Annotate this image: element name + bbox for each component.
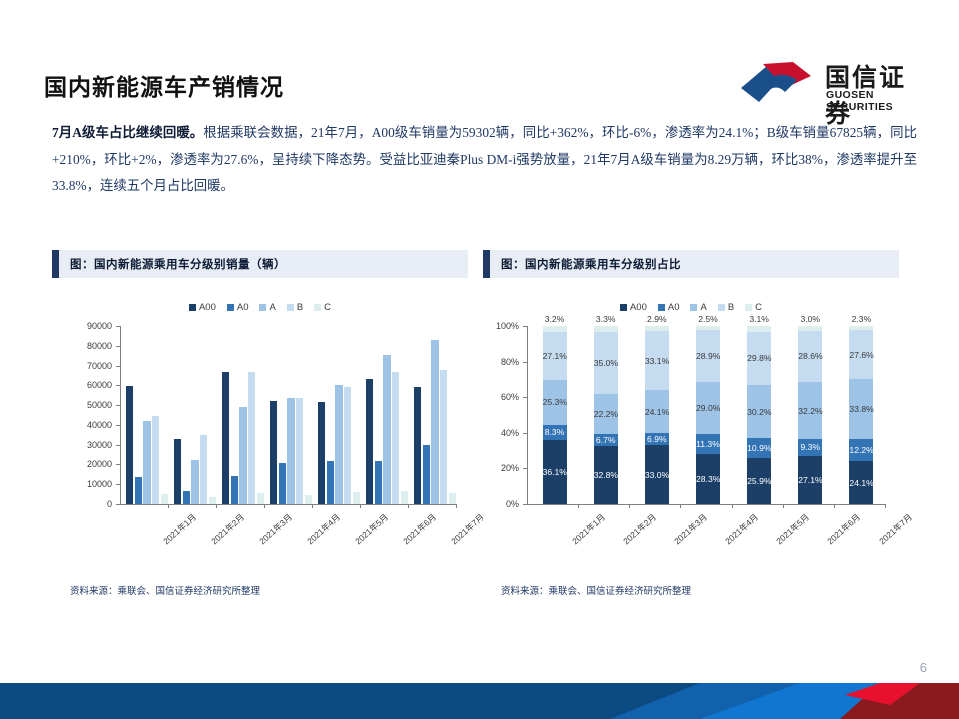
legend-swatch-a00	[620, 304, 627, 311]
segment-label-a0: 8.3%	[543, 427, 567, 437]
bar-a0	[183, 491, 190, 504]
bar-c	[449, 493, 456, 504]
segment-label-c: 3.0%	[798, 314, 822, 324]
segment-label-b: 27.6%	[849, 350, 873, 360]
legend-item-a00: A00	[620, 302, 647, 313]
legend-item-a: A	[690, 302, 706, 313]
y-tick	[523, 504, 527, 505]
legend-label-a0: A0	[237, 302, 249, 313]
stacked-bar: 32.8%6.7%22.2%35.0%3.3%	[594, 326, 618, 504]
bar-a	[143, 421, 150, 504]
bar-b	[152, 416, 159, 504]
x-axis-label: 2021年2月	[208, 511, 246, 547]
bar-b	[200, 435, 207, 504]
bar-b	[248, 372, 255, 504]
guosen-logo-mark	[737, 58, 815, 104]
segment-label-a00: 27.1%	[798, 475, 822, 485]
y-axis-label: 70000	[52, 361, 112, 371]
segment-label-a0: 11.3%	[696, 439, 720, 449]
bar-a	[287, 398, 294, 504]
segment-label-b: 33.1%	[645, 356, 669, 366]
summary-paragraph: 7月A级车占比继续回暖。根据乘联会数据，21年7月，A00级车销量为59302辆…	[52, 120, 917, 200]
bar-a	[335, 385, 342, 504]
y-tick	[116, 385, 120, 386]
y-tick	[116, 464, 120, 465]
segment-label-b: 28.9%	[696, 351, 720, 361]
x-axis-label: 2021年7月	[448, 511, 486, 547]
y-axis-label: 50000	[52, 400, 112, 410]
legend-item-b: B	[718, 302, 734, 313]
legend-swatch-a	[690, 304, 697, 311]
segment-label-a0: 9.3%	[798, 442, 822, 452]
x-tick	[680, 504, 681, 508]
bar-a00	[174, 439, 181, 504]
legend-item-a0: A0	[658, 302, 680, 313]
x-tick	[578, 504, 579, 508]
y-axis-label: 20000	[52, 459, 112, 469]
legend-item-a: A	[259, 302, 275, 313]
bar-a00	[414, 387, 421, 504]
bar-c	[209, 497, 216, 504]
chart-panel-volume-header: 图：国内新能源乘用车分级别销量（辆）	[52, 250, 468, 278]
bar-b	[440, 370, 447, 504]
slide-page: 国内新能源车产销情况 国信证券 GUOSEN SECURITIES 7月A级车占…	[0, 0, 959, 719]
bar-c	[353, 492, 360, 504]
segment-label-a: 29.0%	[696, 403, 720, 413]
x-axis-label: 2021年5月	[774, 511, 812, 547]
segment-label-c: 2.3%	[849, 314, 873, 324]
segment-label-a: 24.1%	[645, 407, 669, 417]
segment-label-a: 32.2%	[798, 406, 822, 416]
bar-a0	[327, 461, 334, 504]
chart-panel-volume-body: A00A0ABC 0100002000030000400005000060000…	[52, 278, 468, 578]
x-axis-label: 2021年6月	[400, 511, 438, 547]
chart-legend-share: A00A0ABC	[483, 302, 899, 313]
x-tick	[408, 504, 409, 508]
bar-a0	[375, 461, 382, 504]
stacked-bar: 24.1%12.2%33.8%27.6%2.3%	[849, 326, 873, 504]
y-tick	[116, 504, 120, 505]
y-axis-label: 60%	[483, 392, 519, 402]
panel-accent-bar	[52, 250, 59, 278]
segment-label-a00: 25.9%	[747, 476, 771, 486]
legend-item-a0: A0	[227, 302, 249, 313]
y-axis-label: 10000	[52, 479, 112, 489]
legend-label-c: C	[755, 302, 762, 313]
x-tick	[264, 504, 265, 508]
y-tick	[116, 405, 120, 406]
x-tick	[360, 504, 361, 508]
footer-bands	[0, 683, 959, 719]
legend-label-a: A	[269, 302, 275, 313]
bar-c	[305, 495, 312, 504]
y-tick	[523, 326, 527, 327]
y-axis-label: 80000	[52, 341, 112, 351]
y-axis-line	[527, 326, 528, 504]
y-tick	[116, 346, 120, 347]
y-tick	[116, 445, 120, 446]
x-tick	[216, 504, 217, 508]
legend-swatch-c	[745, 304, 752, 311]
legend-item-a00: A00	[189, 302, 216, 313]
bar-a	[191, 460, 198, 504]
segment-label-a00: 33.0%	[645, 470, 669, 480]
legend-label-a: A	[700, 302, 706, 313]
segment-label-a0: 6.7%	[594, 435, 618, 445]
bar-a0	[135, 477, 142, 504]
chart-plot-share: 0%20%40%60%80%100%36.1%8.3%25.3%27.1%3.2…	[483, 320, 899, 578]
bar-c	[401, 491, 408, 504]
segment-label-a00: 36.1%	[543, 467, 567, 477]
x-tick	[629, 504, 630, 508]
y-tick	[116, 425, 120, 426]
x-axis-label: 2021年7月	[876, 511, 914, 547]
y-axis-label: 60000	[52, 380, 112, 390]
segment-label-c: 3.3%	[594, 314, 618, 324]
segment-label-b: 29.8%	[747, 353, 771, 363]
bar-b	[392, 372, 399, 504]
x-tick	[885, 504, 886, 508]
chart-title-volume: 图：国内新能源乘用车分级别销量（辆）	[70, 256, 286, 272]
slide-header: 国内新能源车产销情况 国信证券 GUOSEN SECURITIES	[0, 0, 959, 115]
legend-label-a00: A00	[630, 302, 647, 313]
chart-panel-share-body: A00A0ABC 0%20%40%60%80%100%36.1%8.3%25.3…	[483, 278, 899, 578]
x-tick	[312, 504, 313, 508]
x-axis-label: 2021年6月	[825, 511, 863, 547]
bar-a	[383, 355, 390, 504]
panel-accent-bar	[483, 250, 490, 278]
x-tick	[783, 504, 784, 508]
legend-label-c: C	[324, 302, 331, 313]
legend-swatch-c	[314, 304, 321, 311]
segment-label-c: 2.9%	[645, 314, 669, 324]
x-tick	[732, 504, 733, 508]
segment-label-b: 28.6%	[798, 351, 822, 361]
stacked-bar: 25.9%10.9%30.2%29.8%3.1%	[747, 326, 771, 504]
logo-english-name: GUOSEN SECURITIES	[826, 89, 917, 113]
y-tick	[523, 397, 527, 398]
x-axis-label: 2021年4月	[304, 511, 342, 547]
bar-c	[161, 494, 168, 504]
y-tick	[523, 468, 527, 469]
y-axis-label: 30000	[52, 440, 112, 450]
stacked-bar: 36.1%8.3%25.3%27.1%3.2%	[543, 326, 567, 504]
segment-label-a00: 24.1%	[849, 478, 873, 488]
segment-c	[645, 326, 669, 331]
x-tick	[834, 504, 835, 508]
segment-label-a: 25.3%	[543, 397, 567, 407]
legend-swatch-a0	[658, 304, 665, 311]
x-axis-label: 2021年4月	[723, 511, 761, 547]
bar-b	[296, 398, 303, 504]
bar-a00	[126, 386, 133, 504]
y-tick	[116, 484, 120, 485]
segment-c	[594, 326, 618, 332]
stacked-bar: 28.3%11.3%29.0%28.9%2.5%	[696, 326, 720, 504]
bar-a0	[231, 476, 238, 504]
chart-plot-volume: 0100002000030000400005000060000700008000…	[52, 320, 468, 578]
bar-a	[431, 340, 438, 504]
segment-label-c: 3.2%	[543, 314, 567, 324]
legend-label-a00: A00	[199, 302, 216, 313]
segment-c	[798, 326, 822, 331]
y-axis-label: 0%	[483, 499, 519, 509]
legend-swatch-b	[718, 304, 725, 311]
page-title: 国内新能源车产销情况	[44, 68, 284, 102]
legend-swatch-b	[287, 304, 294, 311]
y-axis-label: 40000	[52, 420, 112, 430]
segment-label-a0: 12.2%	[849, 445, 873, 455]
legend-label-b: B	[297, 302, 303, 313]
segment-label-a: 30.2%	[747, 407, 771, 417]
bar-a00	[270, 401, 277, 504]
legend-label-a0: A0	[668, 302, 680, 313]
legend-swatch-a	[259, 304, 266, 311]
segment-label-a00: 28.3%	[696, 474, 720, 484]
segment-label-a0: 6.9%	[645, 434, 669, 444]
x-axis-line	[527, 504, 885, 505]
chart-panel-share-header: 图：国内新能源乘用车分级别占比	[483, 250, 899, 278]
segment-label-a: 22.2%	[594, 409, 618, 419]
bar-b	[344, 387, 351, 504]
x-axis-label: 2021年1月	[569, 511, 607, 547]
bar-a	[239, 407, 246, 504]
y-axis-label: 20%	[483, 463, 519, 473]
y-axis-line	[120, 326, 121, 504]
x-tick	[456, 504, 457, 508]
legend-item-b: B	[287, 302, 303, 313]
segment-label-c: 2.5%	[696, 314, 720, 324]
summary-lead: 7月A级车占比继续回暖。	[52, 125, 203, 140]
footer-decoration	[0, 683, 959, 719]
segment-c	[849, 326, 873, 330]
bar-a00	[318, 402, 325, 504]
segment-label-a00: 32.8%	[594, 470, 618, 480]
x-axis-label: 2021年3月	[256, 511, 294, 547]
stacked-bar: 33.0%6.9%24.1%33.1%2.9%	[645, 326, 669, 504]
x-axis-label: 2021年5月	[352, 511, 390, 547]
legend-label-b: B	[728, 302, 734, 313]
bar-a0	[423, 445, 430, 504]
y-axis-label: 100%	[483, 321, 519, 331]
segment-label-b: 27.1%	[543, 351, 567, 361]
x-axis-label: 2021年1月	[160, 511, 198, 547]
legend-item-c: C	[314, 302, 331, 313]
y-axis-label: 80%	[483, 357, 519, 367]
chart-source-share: 资料来源：乘联会、国信证券经济研究所整理	[483, 583, 899, 597]
company-logo: 国信证券 GUOSEN SECURITIES	[737, 56, 917, 108]
chart-panel-volume: 图：国内新能源乘用车分级别销量（辆） A00A0ABC 010000200003…	[52, 250, 468, 600]
segment-label-a: 33.8%	[849, 404, 873, 414]
segment-label-b: 35.0%	[594, 358, 618, 368]
bar-a00	[222, 372, 229, 504]
chart-source-volume: 资料来源：乘联会、国信证券经济研究所整理	[52, 583, 468, 597]
segment-label-a0: 10.9%	[747, 443, 771, 453]
segment-c	[543, 326, 567, 332]
bar-c	[257, 493, 264, 504]
bar-a0	[279, 463, 286, 504]
segment-c	[696, 326, 720, 330]
y-tick	[523, 362, 527, 363]
chart-panel-share: 图：国内新能源乘用车分级别占比 A00A0ABC 0%20%40%60%80%1…	[483, 250, 899, 600]
y-tick	[523, 433, 527, 434]
segment-c	[747, 326, 771, 332]
chart-title-share: 图：国内新能源乘用车分级别占比	[501, 256, 681, 272]
legend-swatch-a0	[227, 304, 234, 311]
x-axis-line	[120, 504, 456, 505]
y-axis-label: 90000	[52, 321, 112, 331]
legend-item-c: C	[745, 302, 762, 313]
page-number: 6	[920, 660, 927, 675]
x-axis-label: 2021年3月	[671, 511, 709, 547]
segment-label-c: 3.1%	[747, 314, 771, 324]
x-tick	[168, 504, 169, 508]
y-axis-label: 40%	[483, 428, 519, 438]
legend-swatch-a00	[189, 304, 196, 311]
y-axis-label: 0	[52, 499, 112, 509]
y-tick	[116, 366, 120, 367]
y-tick	[116, 326, 120, 327]
x-axis-label: 2021年2月	[620, 511, 658, 547]
chart-legend-volume: A00A0ABC	[52, 302, 468, 313]
stacked-bar: 27.1%9.3%32.2%28.6%3.0%	[798, 326, 822, 504]
bar-a00	[366, 379, 373, 504]
